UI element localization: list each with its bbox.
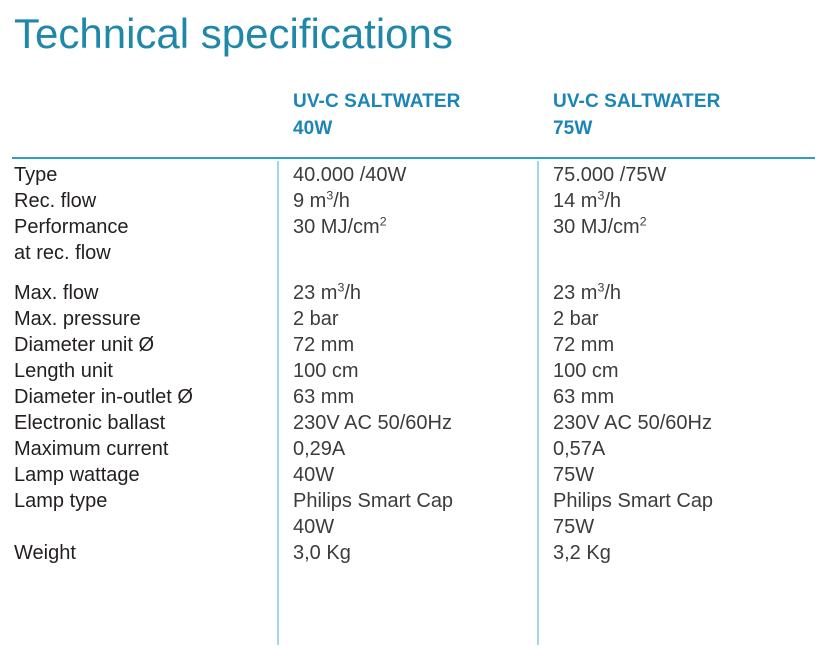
spec-value-75w: 72 mm — [553, 332, 813, 358]
spec-value-75w: 14 m3/h — [553, 188, 813, 214]
spec-label: Length unit — [14, 358, 269, 384]
spec-value-75w: 75W — [553, 514, 813, 540]
spec-value-40w: Philips Smart Cap — [293, 488, 533, 514]
spec-value-75w: 230V AC 50/60Hz — [553, 410, 813, 436]
table-row: Weight3,0 Kg3,2 Kg — [0, 540, 826, 566]
spec-label: Lamp type — [14, 488, 269, 514]
spec-label: Diameter unit Ø — [14, 332, 269, 358]
table-row: Max. flow23 m3/h23 m3/h — [0, 280, 826, 306]
spec-value-40w: 9 m3/h — [293, 188, 533, 214]
table-row: Performance30 MJ/cm230 MJ/cm2 — [0, 214, 826, 240]
spec-value-75w: 100 cm — [553, 358, 813, 384]
page-title: Technical specifications — [14, 8, 453, 60]
spec-label: Type — [14, 162, 269, 188]
spec-value-75w: 3,2 Kg — [553, 540, 813, 566]
spec-label: at rec. flow — [14, 240, 269, 266]
table-row: Lamp typePhilips Smart CapPhilips Smart … — [0, 488, 826, 514]
column-header-uvc-saltwater-75w: UV-C SALTWATER 75W — [553, 88, 813, 142]
header-separator-rule — [12, 157, 815, 159]
table-row: Rec. flow9 m3/h14 m3/h — [0, 188, 826, 214]
spec-label: Max. flow — [14, 280, 269, 306]
spec-value-40w: 3,0 Kg — [293, 540, 533, 566]
spec-value-40w: 0,29A — [293, 436, 533, 462]
spec-value-75w: Philips Smart Cap — [553, 488, 813, 514]
column-header-uvc-saltwater-40w: UV-C SALTWATER 40W — [293, 88, 543, 142]
spec-value-40w: 30 MJ/cm2 — [293, 214, 533, 240]
spec-label: Maximum current — [14, 436, 269, 462]
spec-value-40w: 100 cm — [293, 358, 533, 384]
column-header-75w-line2: 75W — [553, 115, 813, 142]
spec-value-40w: 40W — [293, 462, 533, 488]
column-header-75w-line1: UV-C SALTWATER — [553, 91, 720, 112]
spec-label: Max. pressure — [14, 306, 269, 332]
spec-value-75w: 23 m3/h — [553, 280, 813, 306]
table-row: at rec. flow — [0, 240, 826, 266]
spec-value-75w: 30 MJ/cm2 — [553, 214, 813, 240]
table-row-spacer — [0, 266, 826, 280]
table-row: Diameter unit Ø72 mm72 mm — [0, 332, 826, 358]
table-row: Diameter in-outlet Ø63 mm63 mm — [0, 384, 826, 410]
spec-label: Rec. flow — [14, 188, 269, 214]
spec-value-75w: 75W — [553, 462, 813, 488]
table-row: Type40.000 /40W75.000 /75W — [0, 162, 826, 188]
spec-value-40w: 40W — [293, 514, 533, 540]
spec-value-40w: 23 m3/h — [293, 280, 533, 306]
spec-value-40w: 72 mm — [293, 332, 533, 358]
table-row: Maximum current0,29A0,57A — [0, 436, 826, 462]
technical-specifications-page: Technical specifications UV-C SALTWATER … — [0, 0, 826, 652]
spec-label: Weight — [14, 540, 269, 566]
spec-value-75w: 63 mm — [553, 384, 813, 410]
column-header-40w-line2: 40W — [293, 115, 543, 142]
spec-label: Performance — [14, 214, 269, 240]
table-row: 40W75W — [0, 514, 826, 540]
spec-value-75w: 2 bar — [553, 306, 813, 332]
spec-value-40w: 40.000 /40W — [293, 162, 533, 188]
spec-value-75w: 75.000 /75W — [553, 162, 813, 188]
table-row: Lamp wattage40W75W — [0, 462, 826, 488]
spec-value-40w: 230V AC 50/60Hz — [293, 410, 533, 436]
spec-value-75w: 0,57A — [553, 436, 813, 462]
spec-label: Electronic ballast — [14, 410, 269, 436]
spec-label: Diameter in-outlet Ø — [14, 384, 269, 410]
table-row: Electronic ballast230V AC 50/60Hz230V AC… — [0, 410, 826, 436]
spec-label: Lamp wattage — [14, 462, 269, 488]
spec-value-40w: 63 mm — [293, 384, 533, 410]
table-row: Length unit100 cm100 cm — [0, 358, 826, 384]
column-header-40w-line1: UV-C SALTWATER — [293, 91, 460, 112]
table-row: Max. pressure2 bar2 bar — [0, 306, 826, 332]
spec-value-40w: 2 bar — [293, 306, 533, 332]
spec-table-body: Type40.000 /40W75.000 /75WRec. flow9 m3/… — [0, 162, 826, 566]
